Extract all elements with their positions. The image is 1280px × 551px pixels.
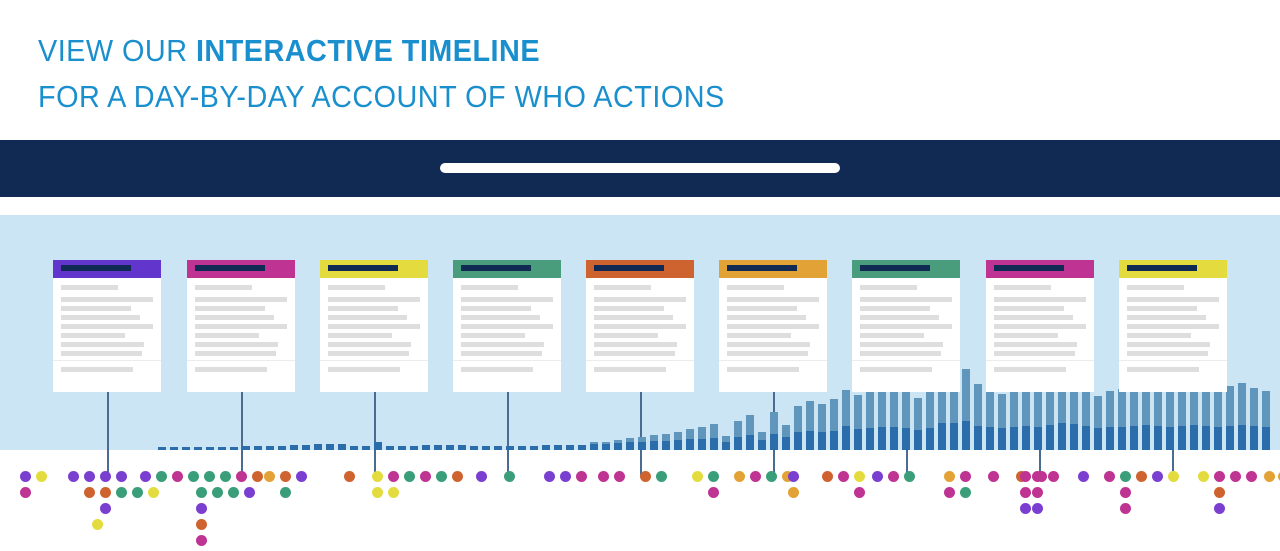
chart-bar [1190, 383, 1198, 450]
chart-bar [626, 438, 634, 450]
chart-bar [818, 404, 826, 450]
chart-bar-lower-segment [890, 427, 898, 450]
chart-bar-lower-segment [794, 432, 802, 450]
chart-bar-upper-segment [1214, 391, 1222, 427]
event-dot[interactable] [944, 471, 955, 482]
event-dot[interactable] [544, 471, 555, 482]
chart-bar [674, 432, 682, 450]
event-dot[interactable] [344, 471, 355, 482]
chart-bar [686, 429, 694, 450]
chart-bar-lower-segment [722, 442, 730, 450]
event-dot[interactable] [1032, 487, 1043, 498]
chart-bar [386, 446, 394, 450]
chart-bar-upper-segment [914, 398, 922, 430]
event-dot[interactable] [84, 471, 95, 482]
card-text-line [195, 285, 252, 290]
chart-bar-lower-segment [614, 443, 622, 450]
event-dot[interactable] [1264, 471, 1275, 482]
chart-bar [866, 390, 874, 450]
chart-bar-lower-segment [1178, 426, 1186, 450]
chart-bar [1238, 383, 1246, 450]
card-divider [53, 360, 161, 361]
chart-bar [902, 388, 910, 450]
chart-bar [794, 406, 802, 450]
card-header [1119, 260, 1227, 278]
chart-bar-lower-segment [650, 441, 658, 450]
card-footer [187, 367, 295, 372]
event-dot[interactable] [280, 487, 291, 498]
chart-bar-upper-segment [1202, 386, 1210, 426]
event-dot[interactable] [100, 487, 111, 498]
card-text-line [461, 333, 525, 338]
chart-bar-lower-segment [554, 445, 562, 450]
event-dot[interactable] [36, 471, 47, 482]
event-dot[interactable] [656, 471, 667, 482]
chart-bar-lower-segment [1106, 427, 1114, 450]
card-text-line [594, 285, 651, 290]
chart-bar [302, 445, 310, 450]
event-dot[interactable] [1020, 471, 1031, 482]
event-dot[interactable] [734, 471, 745, 482]
chart-bar-upper-segment [998, 394, 1006, 428]
event-dot[interactable] [1120, 471, 1131, 482]
event-dot[interactable] [766, 471, 777, 482]
card-text-line [461, 324, 553, 329]
chart-bar-lower-segment [398, 446, 406, 450]
chart-bar-lower-segment [446, 445, 454, 450]
card-text-line [461, 315, 540, 320]
event-dot[interactable] [640, 471, 651, 482]
timeline-card[interactable] [187, 260, 295, 392]
chart-bar-lower-segment [194, 447, 202, 450]
event-dot[interactable] [252, 471, 263, 482]
event-dot[interactable] [196, 535, 207, 546]
chart-bar [1142, 383, 1150, 450]
event-dot[interactable] [1152, 471, 1163, 482]
card-body [586, 278, 694, 356]
event-dot[interactable] [372, 487, 383, 498]
event-dot[interactable] [576, 471, 587, 482]
card-body [187, 278, 295, 356]
chart-bar-upper-segment [734, 421, 742, 437]
card-text-line [61, 324, 153, 329]
event-dot[interactable] [1078, 471, 1089, 482]
card-text-line [61, 285, 118, 290]
chart-bar [1166, 389, 1174, 450]
event-dot[interactable] [236, 471, 247, 482]
event-dot[interactable] [116, 487, 127, 498]
event-dot[interactable] [372, 471, 383, 482]
event-dot[interactable] [960, 471, 971, 482]
event-dot[interactable] [1214, 503, 1225, 514]
card-text-line [994, 351, 1075, 356]
card-text-line [727, 297, 819, 302]
timeline-card[interactable] [320, 260, 428, 392]
event-dot[interactable] [92, 519, 103, 530]
chart-bar [278, 446, 286, 450]
event-dot[interactable] [1120, 503, 1131, 514]
chart-bar-lower-segment [1070, 424, 1078, 450]
event-dot[interactable] [1104, 471, 1115, 482]
event-dot[interactable] [960, 487, 971, 498]
card-text-line [328, 342, 411, 347]
chart-bar-upper-segment [758, 432, 766, 440]
card-text-line [61, 333, 125, 338]
card-footer [719, 367, 827, 372]
card-text-line [994, 333, 1058, 338]
chart-bar [554, 445, 562, 450]
event-dot[interactable] [854, 487, 865, 498]
chart-bar-upper-segment [662, 434, 670, 441]
card-text-line [328, 324, 420, 329]
card-text-line [594, 306, 664, 311]
chart-bar [158, 447, 166, 450]
chart-bar-lower-segment [770, 434, 778, 450]
card-text-line [727, 306, 797, 311]
chart-bar-lower-segment [566, 445, 574, 450]
event-dot[interactable] [84, 487, 95, 498]
event-dot[interactable] [1032, 503, 1043, 514]
chart-bar-lower-segment [1034, 427, 1042, 450]
chart-bar-upper-segment [710, 424, 718, 438]
chart-bar [614, 440, 622, 450]
chart-bar [338, 444, 346, 450]
timeline-card[interactable] [53, 260, 161, 392]
event-dot[interactable] [244, 487, 255, 498]
event-dot[interactable] [228, 487, 239, 498]
card-text-line [328, 333, 392, 338]
card-footer [320, 367, 428, 372]
chart-bar [542, 445, 550, 450]
chart-bar-lower-segment [206, 447, 214, 450]
event-dot[interactable] [296, 471, 307, 482]
card-body [53, 278, 161, 356]
card-header [187, 260, 295, 278]
chart-bar [254, 446, 262, 450]
card-text-line [994, 297, 1086, 302]
chart-bar [578, 445, 586, 450]
event-dot[interactable] [1246, 471, 1257, 482]
chart-bar [530, 446, 538, 450]
chart-bar-lower-segment [902, 428, 910, 450]
card-text-line [860, 342, 943, 347]
chart-bar-upper-segment [902, 388, 910, 428]
chart-bar [782, 425, 790, 450]
chart-bar-lower-segment [314, 444, 322, 450]
card-text-line [195, 351, 276, 356]
chart-bar-lower-segment [1226, 426, 1234, 450]
chart-bar-lower-segment [266, 446, 274, 450]
card-body [453, 278, 561, 356]
chart-bar-lower-segment [950, 423, 958, 450]
event-dot[interactable] [988, 471, 999, 482]
event-dot[interactable] [750, 471, 761, 482]
event-dot[interactable] [708, 471, 719, 482]
event-dot[interactable] [1214, 487, 1225, 498]
card-text-line [594, 333, 658, 338]
event-dot[interactable] [888, 471, 899, 482]
chart-bar-lower-segment [590, 444, 598, 450]
card-text-line [860, 324, 952, 329]
card-text-line [195, 342, 278, 347]
chart-bar-upper-segment [974, 384, 982, 426]
event-dot[interactable] [614, 471, 625, 482]
chart-bar-upper-segment [1022, 386, 1030, 426]
card-divider [986, 360, 1094, 361]
chart-bar-lower-segment [866, 428, 874, 450]
chart-bar-upper-segment [686, 429, 694, 439]
event-dot[interactable] [504, 471, 515, 482]
event-dot[interactable] [1020, 503, 1031, 514]
event-dot[interactable] [196, 519, 207, 530]
event-dot[interactable] [196, 487, 207, 498]
chart-bar-lower-segment [458, 445, 466, 450]
card-footer [453, 367, 561, 372]
event-dot[interactable] [436, 471, 447, 482]
event-dot[interactable] [100, 471, 111, 482]
chart-bar [1082, 386, 1090, 450]
event-dot[interactable] [212, 487, 223, 498]
card-body [852, 278, 960, 356]
chart-bar-lower-segment [962, 421, 970, 450]
card-footer-line [727, 367, 799, 372]
card-body [986, 278, 1094, 356]
chart-bar [1034, 389, 1042, 450]
card-text-line [727, 333, 791, 338]
card-text-line [1127, 333, 1191, 338]
chart-bar [1010, 389, 1018, 450]
event-dot[interactable] [20, 487, 31, 498]
chart-bar-upper-segment [986, 387, 994, 427]
event-dot[interactable] [172, 471, 183, 482]
chart-bar [770, 412, 778, 450]
event-dot[interactable] [1230, 471, 1241, 482]
chart-bar [458, 445, 466, 450]
event-dot[interactable] [68, 471, 79, 482]
event-dot[interactable] [838, 471, 849, 482]
card-text-line [328, 297, 420, 302]
event-dot[interactable] [204, 471, 215, 482]
event-dot[interactable] [788, 487, 799, 498]
chart-bar [974, 384, 982, 450]
chart-bar [1202, 386, 1210, 450]
timeline-card[interactable] [586, 260, 694, 392]
event-dot[interactable] [1198, 471, 1209, 482]
timeline-card[interactable] [852, 260, 960, 392]
chart-bar [314, 444, 322, 450]
chart-bar-lower-segment [746, 435, 754, 450]
chart-bar-upper-segment [1154, 386, 1162, 426]
event-dot[interactable] [280, 471, 291, 482]
event-dot[interactable] [188, 471, 199, 482]
chart-bar-upper-segment [854, 395, 862, 429]
event-dot[interactable] [264, 471, 275, 482]
card-footer-line [461, 367, 533, 372]
card-text-line [461, 351, 542, 356]
event-dot[interactable] [1020, 487, 1031, 498]
card-text-line [994, 315, 1073, 320]
chart-bar-lower-segment [1262, 427, 1270, 450]
chart-bar [230, 447, 238, 450]
card-text-line [1127, 324, 1219, 329]
card-title-bar [994, 265, 1064, 271]
timeline-card[interactable] [1119, 260, 1227, 392]
chart-bar [998, 394, 1006, 450]
chart-bar [746, 415, 754, 450]
chart-bar [854, 395, 862, 450]
card-text-line [1127, 306, 1197, 311]
card-footer [53, 367, 161, 372]
event-dot[interactable] [476, 471, 487, 482]
event-dot[interactable] [854, 471, 865, 482]
card-text-line [195, 315, 274, 320]
card-title-bar [727, 265, 797, 271]
chart-bar-lower-segment [878, 427, 886, 450]
event-dot[interactable] [20, 471, 31, 482]
timeline-card[interactable] [453, 260, 561, 392]
page-root: VIEW OUR INTERACTIVE TIMELINE FOR A DAY-… [0, 0, 1280, 551]
card-text-line [1127, 342, 1210, 347]
card-footer [1119, 367, 1227, 372]
chart-bar-lower-segment [158, 447, 166, 450]
chart-bar [194, 447, 202, 450]
card-text-line [1127, 297, 1219, 302]
chart-bar-lower-segment [518, 446, 526, 450]
chart-bar [290, 445, 298, 450]
chart-bar [1130, 386, 1138, 450]
event-dot[interactable] [420, 471, 431, 482]
event-dot[interactable] [904, 471, 915, 482]
chart-bar-lower-segment [1022, 426, 1030, 450]
card-text-line [195, 306, 265, 311]
chart-bar [926, 390, 934, 450]
chart-bar [590, 442, 598, 450]
card-footer-line [1127, 367, 1199, 372]
card-text-line [727, 315, 806, 320]
card-title-bar [594, 265, 664, 271]
card-text-line [1127, 285, 1184, 290]
chart-bar-lower-segment [734, 437, 742, 450]
chart-bar [410, 446, 418, 450]
card-title-bar [860, 265, 930, 271]
chart-bar [890, 385, 898, 450]
chart-bar-lower-segment [530, 446, 538, 450]
event-dot[interactable] [1168, 471, 1179, 482]
timeline-card[interactable] [986, 260, 1094, 392]
chart-bar-upper-segment [782, 425, 790, 437]
chart-bar [170, 447, 178, 450]
card-title-bar [61, 265, 131, 271]
card-footer [586, 367, 694, 372]
event-dot[interactable] [388, 471, 399, 482]
chart-bar-upper-segment [866, 390, 874, 428]
chart-bar [326, 444, 334, 450]
card-text-line [461, 297, 553, 302]
event-dot[interactable] [1036, 471, 1047, 482]
event-dot[interactable] [196, 503, 207, 514]
event-dot[interactable] [872, 471, 883, 482]
card-title-bar [328, 265, 398, 271]
event-dot[interactable] [692, 471, 703, 482]
card-body [719, 278, 827, 356]
chart-bar [806, 401, 814, 450]
chart-bar [1022, 386, 1030, 450]
card-footer-line [61, 367, 133, 372]
card-text-line [727, 324, 819, 329]
card-text-line [1127, 315, 1206, 320]
chart-bar [482, 446, 490, 450]
event-dot[interactable] [944, 487, 955, 498]
chart-bar-upper-segment [1106, 391, 1114, 427]
event-dot[interactable] [404, 471, 415, 482]
chart-bar [242, 446, 250, 450]
timeline-card[interactable] [719, 260, 827, 392]
event-dot[interactable] [1214, 471, 1225, 482]
chart-bar-upper-segment [878, 387, 886, 427]
card-text-line [328, 315, 407, 320]
event-dot[interactable] [1120, 487, 1131, 498]
chart-bar [398, 446, 406, 450]
card-title-bar [461, 265, 531, 271]
event-dot[interactable] [220, 471, 231, 482]
event-dot[interactable] [388, 487, 399, 498]
chart-bar-lower-segment [662, 441, 670, 450]
chart-bar-upper-segment [1082, 386, 1090, 426]
chart-bar [650, 435, 658, 450]
event-dot[interactable] [116, 471, 127, 482]
event-dot[interactable] [132, 487, 143, 498]
card-text-line [594, 324, 686, 329]
event-dot[interactable] [156, 471, 167, 482]
card-text-line [61, 351, 142, 356]
event-dot[interactable] [452, 471, 463, 482]
chart-bar-lower-segment [1094, 428, 1102, 450]
card-divider [586, 360, 694, 361]
chart-bar-lower-segment [218, 447, 226, 450]
card-text-line [328, 306, 398, 311]
chart-bar-lower-segment [842, 426, 850, 450]
chart-bar [878, 387, 886, 450]
chart-bar [218, 447, 226, 450]
card-text-line [860, 306, 930, 311]
chart-bar-lower-segment [818, 432, 826, 450]
event-dot[interactable] [822, 471, 833, 482]
card-body [1119, 278, 1227, 356]
chart-bar-lower-segment [1190, 425, 1198, 450]
card-text-line [727, 351, 808, 356]
event-dot[interactable] [560, 471, 571, 482]
chart-bar-upper-segment [926, 390, 934, 428]
chart-bar [710, 424, 718, 450]
event-dot[interactable] [1048, 471, 1059, 482]
event-dot[interactable] [1136, 471, 1147, 482]
chart-bar-lower-segment [410, 446, 418, 450]
card-text-line [860, 333, 924, 338]
chart-bar-lower-segment [578, 445, 586, 450]
event-dot[interactable] [148, 487, 159, 498]
event-dot[interactable] [598, 471, 609, 482]
card-divider [1119, 360, 1227, 361]
chart-bar [1094, 396, 1102, 450]
chart-bar-lower-segment [926, 428, 934, 450]
chart-bar [830, 399, 838, 450]
event-dot[interactable] [788, 471, 799, 482]
event-dot[interactable] [100, 503, 111, 514]
chart-bar-lower-segment [1142, 425, 1150, 450]
event-dot[interactable] [140, 471, 151, 482]
event-dot[interactable] [708, 487, 719, 498]
card-text-line [61, 342, 144, 347]
